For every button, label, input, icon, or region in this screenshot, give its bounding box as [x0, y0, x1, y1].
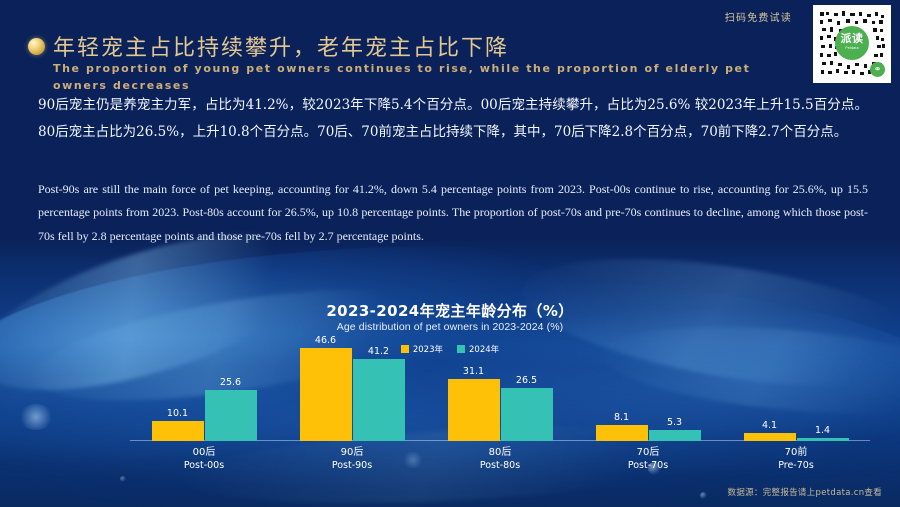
qr-brand-cn: 派读 — [841, 34, 864, 45]
page-subtitle: The proportion of young pet owners conti… — [53, 60, 773, 94]
bar-value-label: 10.1 — [167, 408, 188, 419]
category-label: 70前Pre-70s — [722, 446, 870, 472]
category-label-en: Post-70s — [574, 460, 722, 473]
bar-pair: 8.15.3 — [574, 348, 722, 441]
qr-scan-label: 扫码免费试读 — [725, 9, 792, 24]
data-source-note: 数据源：完整报告请上petdata.cn查看 — [728, 486, 882, 498]
bar-value-label: 4.1 — [762, 420, 777, 431]
summary-paragraph-en: Post-90s are still the main force of pet… — [38, 178, 868, 248]
bar-pair: 46.641.2 — [278, 348, 426, 441]
bar-pair: 31.126.5 — [426, 348, 574, 441]
bar-post-90s-2023年[interactable]: 46.6 — [300, 348, 352, 441]
bar-group: 31.126.580后Post-80s — [426, 348, 574, 441]
category-label: 80后Post-80s — [426, 446, 574, 472]
bar-pair: 4.11.4 — [722, 348, 870, 441]
bar-pair: 10.125.6 — [130, 348, 278, 441]
category-label-en: Post-80s — [426, 460, 574, 473]
bar-group: 4.11.470前Pre-70s — [722, 348, 870, 441]
category-label-cn: 80后 — [426, 446, 574, 460]
bar-post-80s-2024年[interactable]: 26.5 — [501, 388, 553, 441]
category-label-en: Pre-70s — [722, 460, 870, 473]
wechat-icon: ⚭ — [870, 62, 885, 77]
category-label: 00后Post-00s — [130, 446, 278, 472]
bar-post-70s-2024年[interactable]: 5.3 — [649, 430, 701, 441]
category-label-cn: 70后 — [574, 446, 722, 460]
chart-subtitle: Age distribution of pet owners in 2023-2… — [0, 321, 900, 333]
bar-value-label: 8.1 — [614, 412, 629, 423]
category-label-en: Post-90s — [278, 460, 426, 473]
bar-post-00s-2024年[interactable]: 25.6 — [205, 390, 257, 441]
summary-paragraph-cn: 90后宠主仍是养宠主力军，占比为41.2%，较2023年下降5.4个百分点。00… — [38, 92, 868, 146]
bar-value-label: 1.4 — [815, 425, 830, 436]
category-label-cn: 90后 — [278, 446, 426, 460]
chart-title: 2023-2024年宠主年龄分布（%） — [0, 300, 900, 321]
qr-code[interactable]: 派读 Petdata ⚭ — [813, 5, 891, 83]
bar-group: 10.125.600后Post-00s — [130, 348, 278, 441]
bar-value-label: 41.2 — [368, 346, 389, 357]
bar-post-90s-2024年[interactable]: 41.2 — [353, 359, 405, 441]
bar-pre-70s-2023年[interactable]: 4.1 — [744, 433, 796, 441]
category-label: 70后Post-70s — [574, 446, 722, 472]
category-label-cn: 70前 — [722, 446, 870, 460]
bar-post-00s-2023年[interactable]: 10.1 — [152, 421, 204, 441]
bar-post-70s-2023年[interactable]: 8.1 — [596, 425, 648, 441]
bar-value-label: 31.1 — [463, 366, 484, 377]
category-label-cn: 00后 — [130, 446, 278, 460]
bar-value-label: 5.3 — [667, 417, 682, 428]
qr-brand-en: Petdata — [845, 47, 858, 51]
bar-group: 46.641.290后Post-90s — [278, 348, 426, 441]
page-title: 年轻宠主占比持续攀升，老年宠主占比下降 — [53, 30, 509, 62]
slide-title-row: 年轻宠主占比持续攀升，老年宠主占比下降 — [28, 30, 509, 62]
bar-chart-plot: 10.125.600后Post-00s46.641.290后Post-90s31… — [130, 348, 870, 441]
category-label-en: Post-00s — [130, 460, 278, 473]
bar-value-label: 26.5 — [516, 375, 537, 386]
bar-post-80s-2023年[interactable]: 31.1 — [448, 379, 500, 441]
bar-group: 8.15.370后Post-70s — [574, 348, 722, 441]
gold-sphere-bullet-icon — [28, 38, 45, 55]
category-label: 90后Post-90s — [278, 446, 426, 472]
bar-pre-70s-2024年[interactable]: 1.4 — [797, 438, 849, 441]
qr-brand-badge: 派读 Petdata — [835, 26, 869, 60]
bar-value-label: 25.6 — [220, 377, 241, 388]
slide-root: 扫码免费试读 — [0, 0, 900, 507]
bar-value-label: 46.6 — [315, 335, 336, 346]
